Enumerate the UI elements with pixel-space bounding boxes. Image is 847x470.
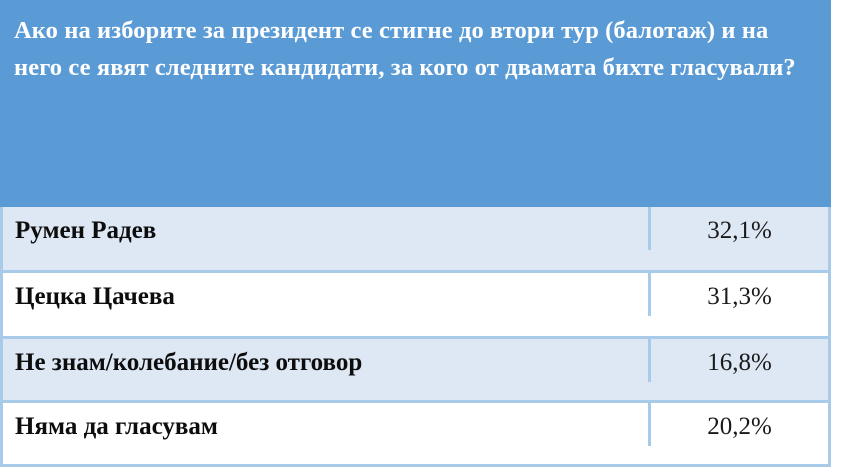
table-row: Няма да гласувам 20,2% xyxy=(0,403,831,467)
row-label: Няма да гласувам xyxy=(3,403,648,446)
row-label: Не знам/колебание/без отговор xyxy=(3,339,648,382)
row-value: 16,8% xyxy=(648,339,828,382)
question-text: Ако на изборите за президент се стигне д… xyxy=(14,12,815,86)
table-row: Цецка Цачева 31,3% xyxy=(0,273,831,339)
poll-results-table: Ако на изборите за президент се стигне д… xyxy=(0,0,847,470)
row-value: 20,2% xyxy=(648,403,828,446)
table-row: Румен Радев 32,1% xyxy=(0,207,831,273)
question-header-band: Ако на изборите за президент се стигне д… xyxy=(0,0,831,207)
row-label: Румен Радев xyxy=(3,207,648,250)
results-rows: Румен Радев 32,1% Цецка Цачева 31,3% Не … xyxy=(0,207,831,467)
row-value: 31,3% xyxy=(648,273,828,316)
table-row: Не знам/колебание/без отговор 16,8% xyxy=(0,339,831,403)
row-label: Цецка Цачева xyxy=(3,273,648,316)
row-value: 32,1% xyxy=(648,207,828,250)
